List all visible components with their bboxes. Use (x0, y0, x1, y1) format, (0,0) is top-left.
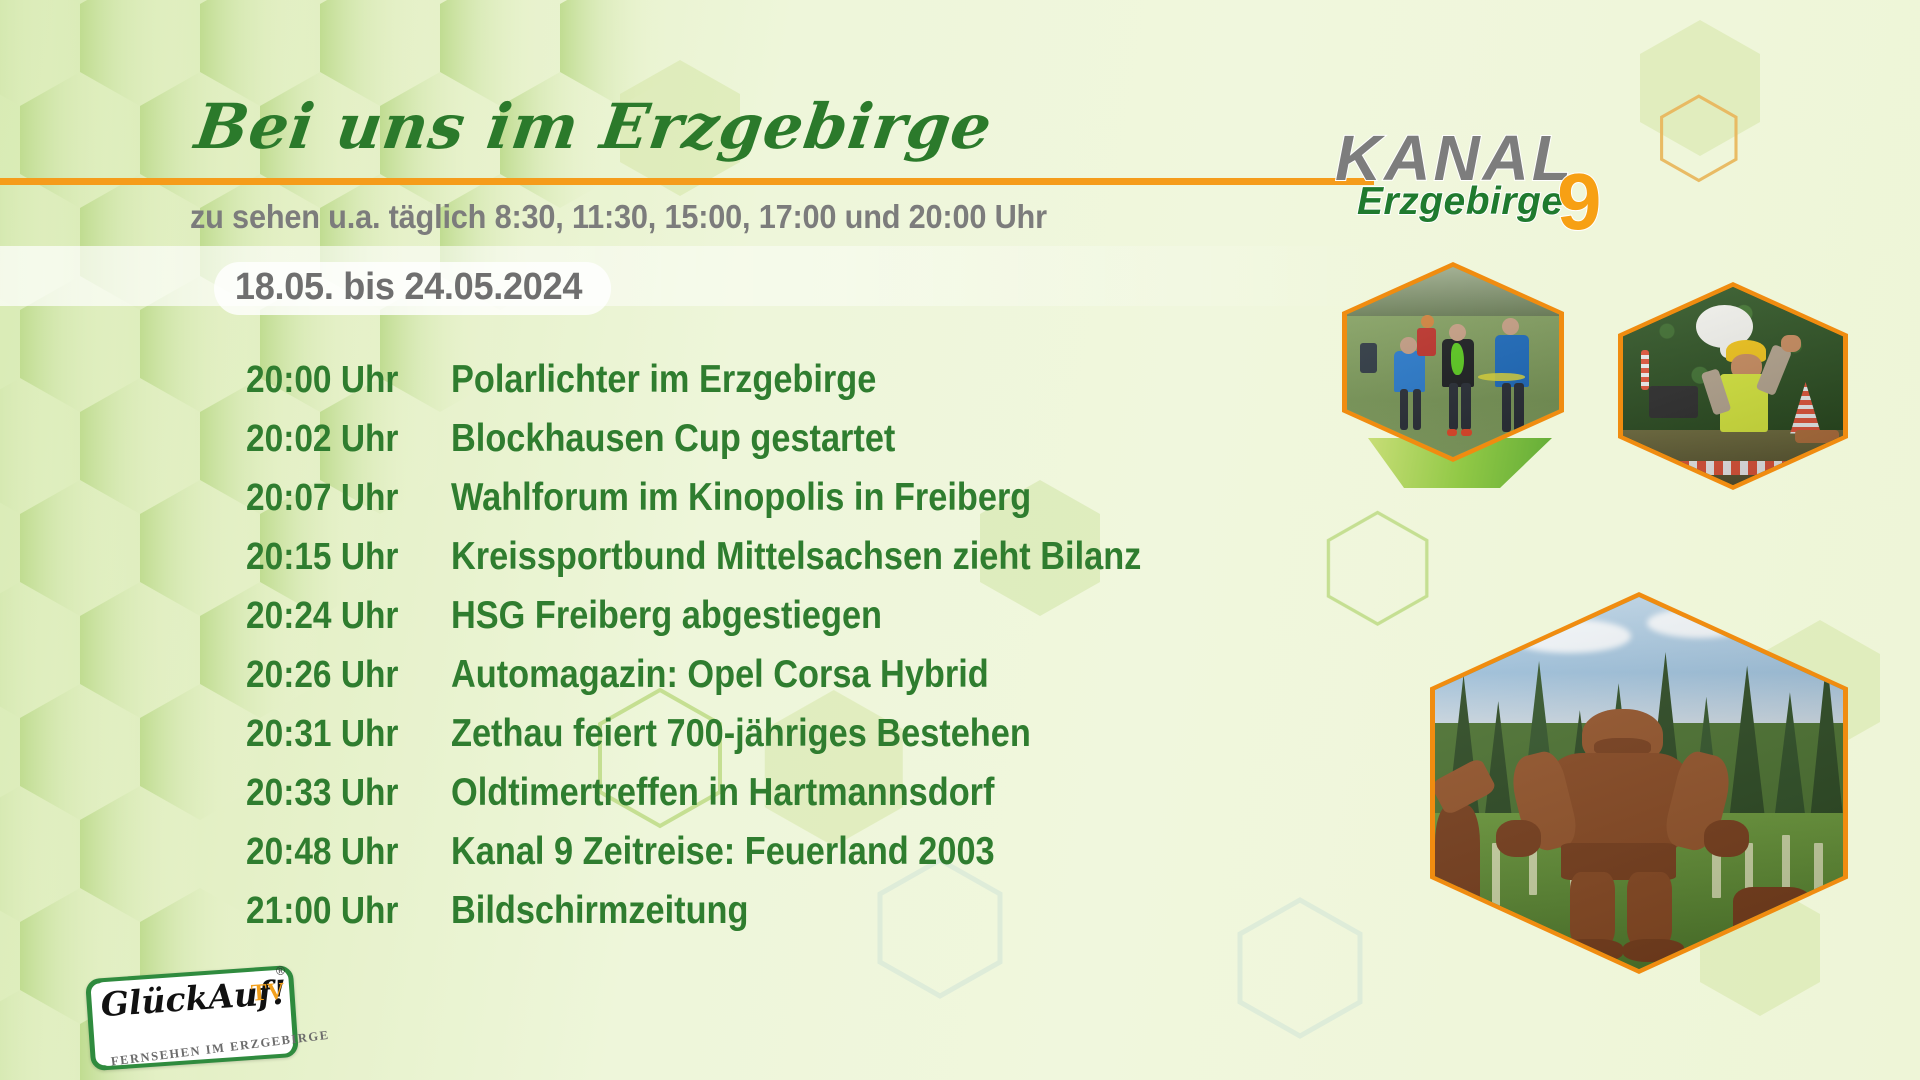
scene-treeline (1347, 267, 1559, 316)
schedule-time: 20:33 Uhr (246, 774, 426, 812)
schedule-time: 20:24 Uhr (246, 597, 426, 635)
schedule-time: 20:48 Uhr (246, 833, 426, 871)
child-legs (1502, 383, 1512, 432)
schedule-row: 20:33 Uhr Oldtimertreffen in Hartmannsdo… (246, 773, 1326, 832)
child-legs (1514, 383, 1524, 432)
glueckauf-tv-logo: GlückAuf! TV ® FERNSEHEN IM ERZGEBIRGE (85, 965, 299, 1071)
schedule-show-title: Wahlforum im Kinopolis in Freiberg (451, 478, 1031, 517)
schedule-show-title: Kreissportbund Mittelsachsen zieht Bilan… (451, 537, 1141, 576)
photo-kids-sports (1342, 262, 1564, 462)
child-legs (1413, 389, 1421, 431)
child-figure-bg (1360, 343, 1377, 373)
child-head (1502, 318, 1519, 335)
child-head (1449, 324, 1466, 341)
channel-number: 9 (1557, 162, 1602, 242)
schedule-show-title: HSG Freiberg abgestiegen (451, 596, 882, 635)
date-range-badge: 18.05. bis 24.05.2024 (214, 262, 611, 315)
red-shoe (1461, 429, 1472, 437)
training-ring (1478, 373, 1525, 381)
child-figure-bg (1417, 328, 1436, 357)
schedule-row: 20:15 Uhr Kreissportbund Mittelsachsen z… (246, 537, 1326, 596)
schedule-row: 20:26 Uhr Automagazin: Opel Corsa Hybrid (246, 655, 1326, 714)
schedule-row: 20:07 Uhr Wahlforum im Kinopolis in Frei… (246, 478, 1326, 537)
schedule-show-title: Automagazin: Opel Corsa Hybrid (451, 655, 989, 694)
worker-hand (1781, 335, 1801, 353)
child-legs (1400, 389, 1408, 431)
tv-suffix: TV (250, 980, 285, 1006)
schedule-row: 20:00 Uhr Polarlichter im Erzgebirge (246, 360, 1326, 419)
photo-construction-worker (1618, 282, 1848, 490)
jacket-graphic (1451, 343, 1464, 375)
schedule-time: 20:07 Uhr (246, 479, 426, 517)
schedule-row: 20:02 Uhr Blockhausen Cup gestartet (246, 419, 1326, 478)
schedule-show-title: Oldtimertreffen in Hartmannsdorf (451, 773, 994, 812)
schedule-row: 20:48 Uhr Kanal 9 Zeitreise: Feuerland 2… (246, 832, 1326, 891)
schedule-show-title: Polarlichter im Erzgebirge (451, 360, 876, 399)
hex-photo-inner (1623, 287, 1843, 485)
troll-leg-left (1570, 872, 1615, 946)
schedule-time: 20:26 Uhr (246, 656, 426, 694)
child-legs (1461, 383, 1471, 431)
troll-leg-right (1627, 872, 1672, 946)
schedule-time: 20:02 Uhr (246, 420, 426, 458)
child-legs (1449, 383, 1459, 431)
schedule-row: 21:00 Uhr Bildschirmzeitung (246, 891, 1326, 950)
schedule-show-title: Blockhausen Cup gestartet (451, 419, 895, 458)
tool-case (1649, 386, 1697, 418)
scene-wooden-troll (1435, 597, 1843, 969)
kanal9-logo: KANAL Erzgebirge 9 (1335, 126, 1620, 236)
tree-post (1492, 843, 1500, 906)
schedule-row: 20:24 Uhr HSG Freiberg abgestiegen (246, 596, 1326, 655)
program-board: Bei uns im Erzgebirge zu sehen u.a. tägl… (0, 0, 1920, 1080)
erzgebirge-wordmark: Erzgebirge (1357, 182, 1564, 221)
barrier-tape (1641, 350, 1650, 390)
scene-construction-worker (1623, 287, 1843, 485)
red-shoe (1447, 429, 1458, 437)
child-figure (1394, 351, 1426, 393)
schedule-row: 20:31 Uhr Zethau feiert 700-jähriges Bes… (246, 714, 1326, 773)
troll-hand-right (1704, 820, 1749, 857)
schedule-time: 20:15 Uhr (246, 538, 426, 576)
registered-trademark-icon: ® (276, 963, 286, 978)
broadcast-times-subtitle: zu sehen u.a. täglich 8:30, 11:30, 15:00… (190, 200, 1047, 233)
title-underline-rule (0, 178, 1374, 185)
troll-side-figure (1435, 805, 1480, 931)
schedule-time: 21:00 Uhr (246, 892, 426, 930)
schedule-show-title: Bildschirmzeitung (451, 891, 748, 930)
photo-wooden-troll (1430, 592, 1848, 974)
troll-foot-right (1623, 939, 1684, 961)
hex-photo-inner (1435, 597, 1843, 969)
child-head-bg (1421, 315, 1434, 328)
schedule-time: 20:00 Uhr (246, 361, 426, 399)
troll-hand-left (1496, 820, 1541, 857)
page-title: Bei uns im Erzgebirge (192, 96, 996, 158)
schedule-time: 20:31 Uhr (246, 715, 426, 753)
program-schedule-list: 20:00 Uhr Polarlichter im Erzgebirge 20:… (246, 360, 1326, 950)
schedule-show-title: Kanal 9 Zeitreise: Feuerland 2003 (451, 832, 995, 871)
schedule-show-title: Zethau feiert 700-jähriges Bestehen (451, 714, 1031, 753)
